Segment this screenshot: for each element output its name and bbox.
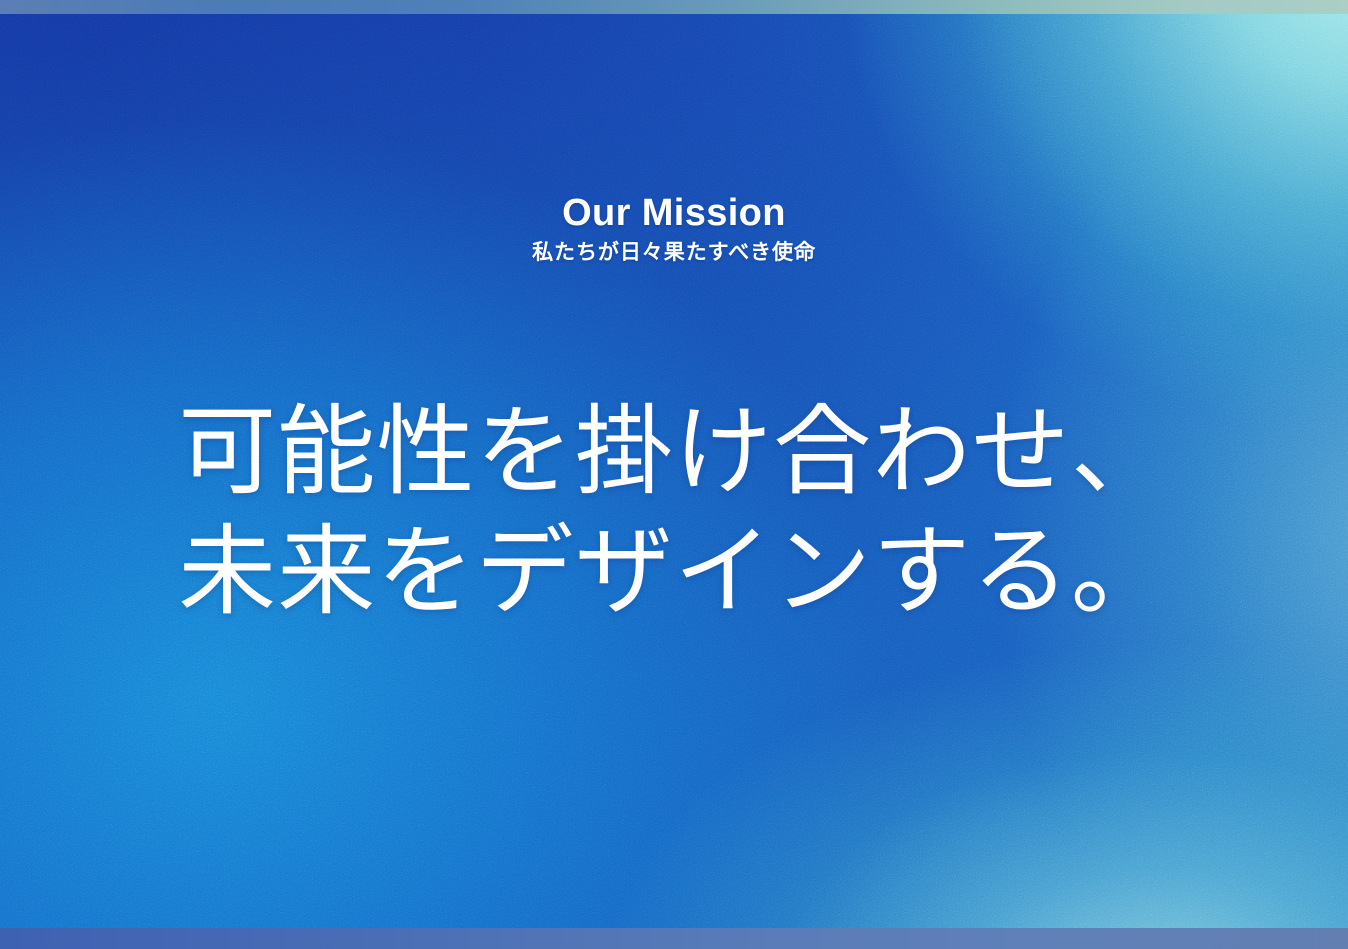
- section-subtitle-ja: 私たちが日々果たすべき使命: [0, 239, 1348, 265]
- hero-content: Our Mission 私たちが日々果たすべき使命 可能性を掛け合わせ、 未来を…: [0, 0, 1348, 949]
- mission-statement-line-1: 可能性を掛け合わせ、: [0, 392, 1348, 512]
- mission-hero-banner: Our Mission 私たちが日々果たすべき使命 可能性を掛け合わせ、 未来を…: [0, 0, 1348, 949]
- mission-statement: 可能性を掛け合わせ、 未来をデザインする。: [0, 392, 1348, 632]
- mission-statement-line-2: 未来をデザインする。: [0, 512, 1348, 632]
- section-title-en: Our Mission: [0, 193, 1348, 233]
- section-heading-group: Our Mission 私たちが日々果たすべき使命: [0, 193, 1348, 266]
